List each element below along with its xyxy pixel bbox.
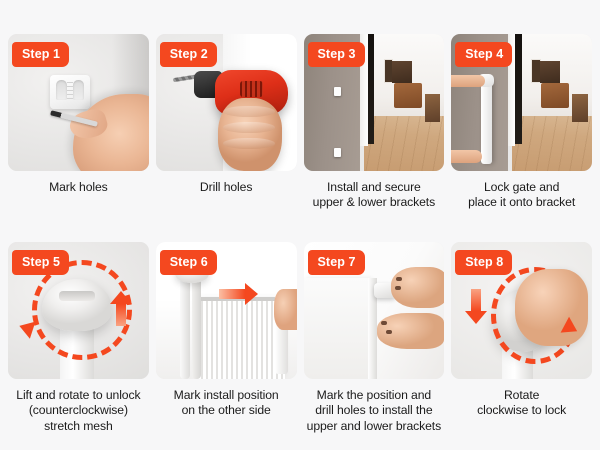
arrow-right-icon xyxy=(219,283,258,305)
step-badge-2: Step 2 xyxy=(160,42,217,67)
step-card-4: Step 4 Lock gate and place it onto brack… xyxy=(451,34,592,230)
fingernail xyxy=(395,286,401,290)
step-card-2: Step 2 Drill holes xyxy=(156,34,297,230)
knuckle xyxy=(223,106,275,118)
installation-steps-sheet: Step 1 Mark holes Step 2 Dril xyxy=(0,0,600,450)
sideboard xyxy=(394,83,422,108)
step-badge-7: Step 7 xyxy=(308,250,365,275)
step-caption-8: Rotate clockwise to lock xyxy=(451,388,592,419)
step-card-5: Step 5 Lift and rotate to unlock (counte… xyxy=(8,242,149,438)
knuckle xyxy=(223,138,275,150)
drill-vent xyxy=(240,81,263,97)
lower-bracket-icon xyxy=(334,148,341,157)
step-badge-5: Step 5 xyxy=(12,250,69,275)
step-photo-2: Step 2 xyxy=(156,34,297,171)
arrow-up-icon xyxy=(110,291,132,326)
step-photo-7: Step 7 xyxy=(304,242,445,379)
step-card-8: Step 8 Rotate clockwise to lock xyxy=(451,242,592,438)
step-photo-8: Step 8 xyxy=(451,242,592,379)
step-badge-3: Step 3 xyxy=(308,42,365,67)
step-badge-1: Step 1 xyxy=(12,42,69,67)
fingernail xyxy=(381,321,387,325)
step-photo-5: Step 5 xyxy=(8,242,149,379)
arrow-down-stem xyxy=(471,289,481,311)
floor-planks xyxy=(364,116,444,171)
step-caption-2: Drill holes xyxy=(156,180,297,195)
door-gap xyxy=(367,34,374,144)
arrow-right-stem xyxy=(219,289,245,299)
arrow-right-head xyxy=(245,283,258,305)
arrow-up-head xyxy=(110,291,132,304)
step-badge-6: Step 6 xyxy=(160,250,217,275)
display-shelf xyxy=(392,61,412,83)
stretch-mesh-icon xyxy=(198,300,285,379)
step-card-1: Step 1 Mark holes xyxy=(8,34,149,230)
hand xyxy=(218,98,283,171)
bracket-template-icon xyxy=(50,75,90,109)
steps-grid: Step 1 Mark holes Step 2 Dril xyxy=(0,0,600,450)
hand-upper xyxy=(391,267,445,308)
step-photo-4: Step 4 xyxy=(451,34,592,171)
door-gap xyxy=(515,34,522,144)
floor-planks xyxy=(512,116,592,171)
hand-upper xyxy=(451,75,485,87)
side-stand xyxy=(425,94,440,121)
step-card-3: Step 3 Install and secure upper & lower … xyxy=(304,34,445,230)
side-stand xyxy=(572,94,587,121)
step-photo-3: Step 3 xyxy=(304,34,445,171)
gate-unit-icon xyxy=(481,79,492,164)
fingernail xyxy=(386,330,392,334)
step-caption-1: Mark holes xyxy=(8,180,149,195)
arrow-down-icon xyxy=(465,289,487,324)
hand xyxy=(515,269,588,346)
hand-lower xyxy=(451,150,482,162)
fingernail xyxy=(396,277,402,281)
step-card-6: Step 6 Mark install position on the othe… xyxy=(156,242,297,438)
arrow-up-stem xyxy=(116,304,126,326)
step-caption-6: Mark install position on the other side xyxy=(156,388,297,419)
hand-lower xyxy=(377,313,445,349)
sideboard xyxy=(541,83,569,108)
step-caption-7: Mark the position and drill holes to ins… xyxy=(304,388,445,434)
step-badge-8: Step 8 xyxy=(455,250,512,275)
hand xyxy=(274,289,297,330)
upper-bracket-icon xyxy=(334,87,341,96)
knuckle xyxy=(223,122,275,134)
stretch-mesh-icon xyxy=(304,278,370,379)
step-photo-6: Step 6 xyxy=(156,242,297,379)
step-badge-4: Step 4 xyxy=(455,42,512,67)
bracket-slots xyxy=(67,82,73,99)
arrow-down-head xyxy=(465,311,487,324)
step-caption-4: Lock gate and place it onto bracket xyxy=(451,180,592,211)
step-caption-5: Lift and rotate to unlock (counterclockw… xyxy=(8,388,149,434)
step-caption-3: Install and secure upper & lower bracket… xyxy=(304,180,445,211)
step-photo-1: Step 1 xyxy=(8,34,149,171)
gate-post-left xyxy=(180,272,190,379)
display-shelf xyxy=(540,61,560,83)
gate-post-inner xyxy=(192,276,201,379)
step-card-7: Step 7 Mark the position and drill holes… xyxy=(304,242,445,438)
